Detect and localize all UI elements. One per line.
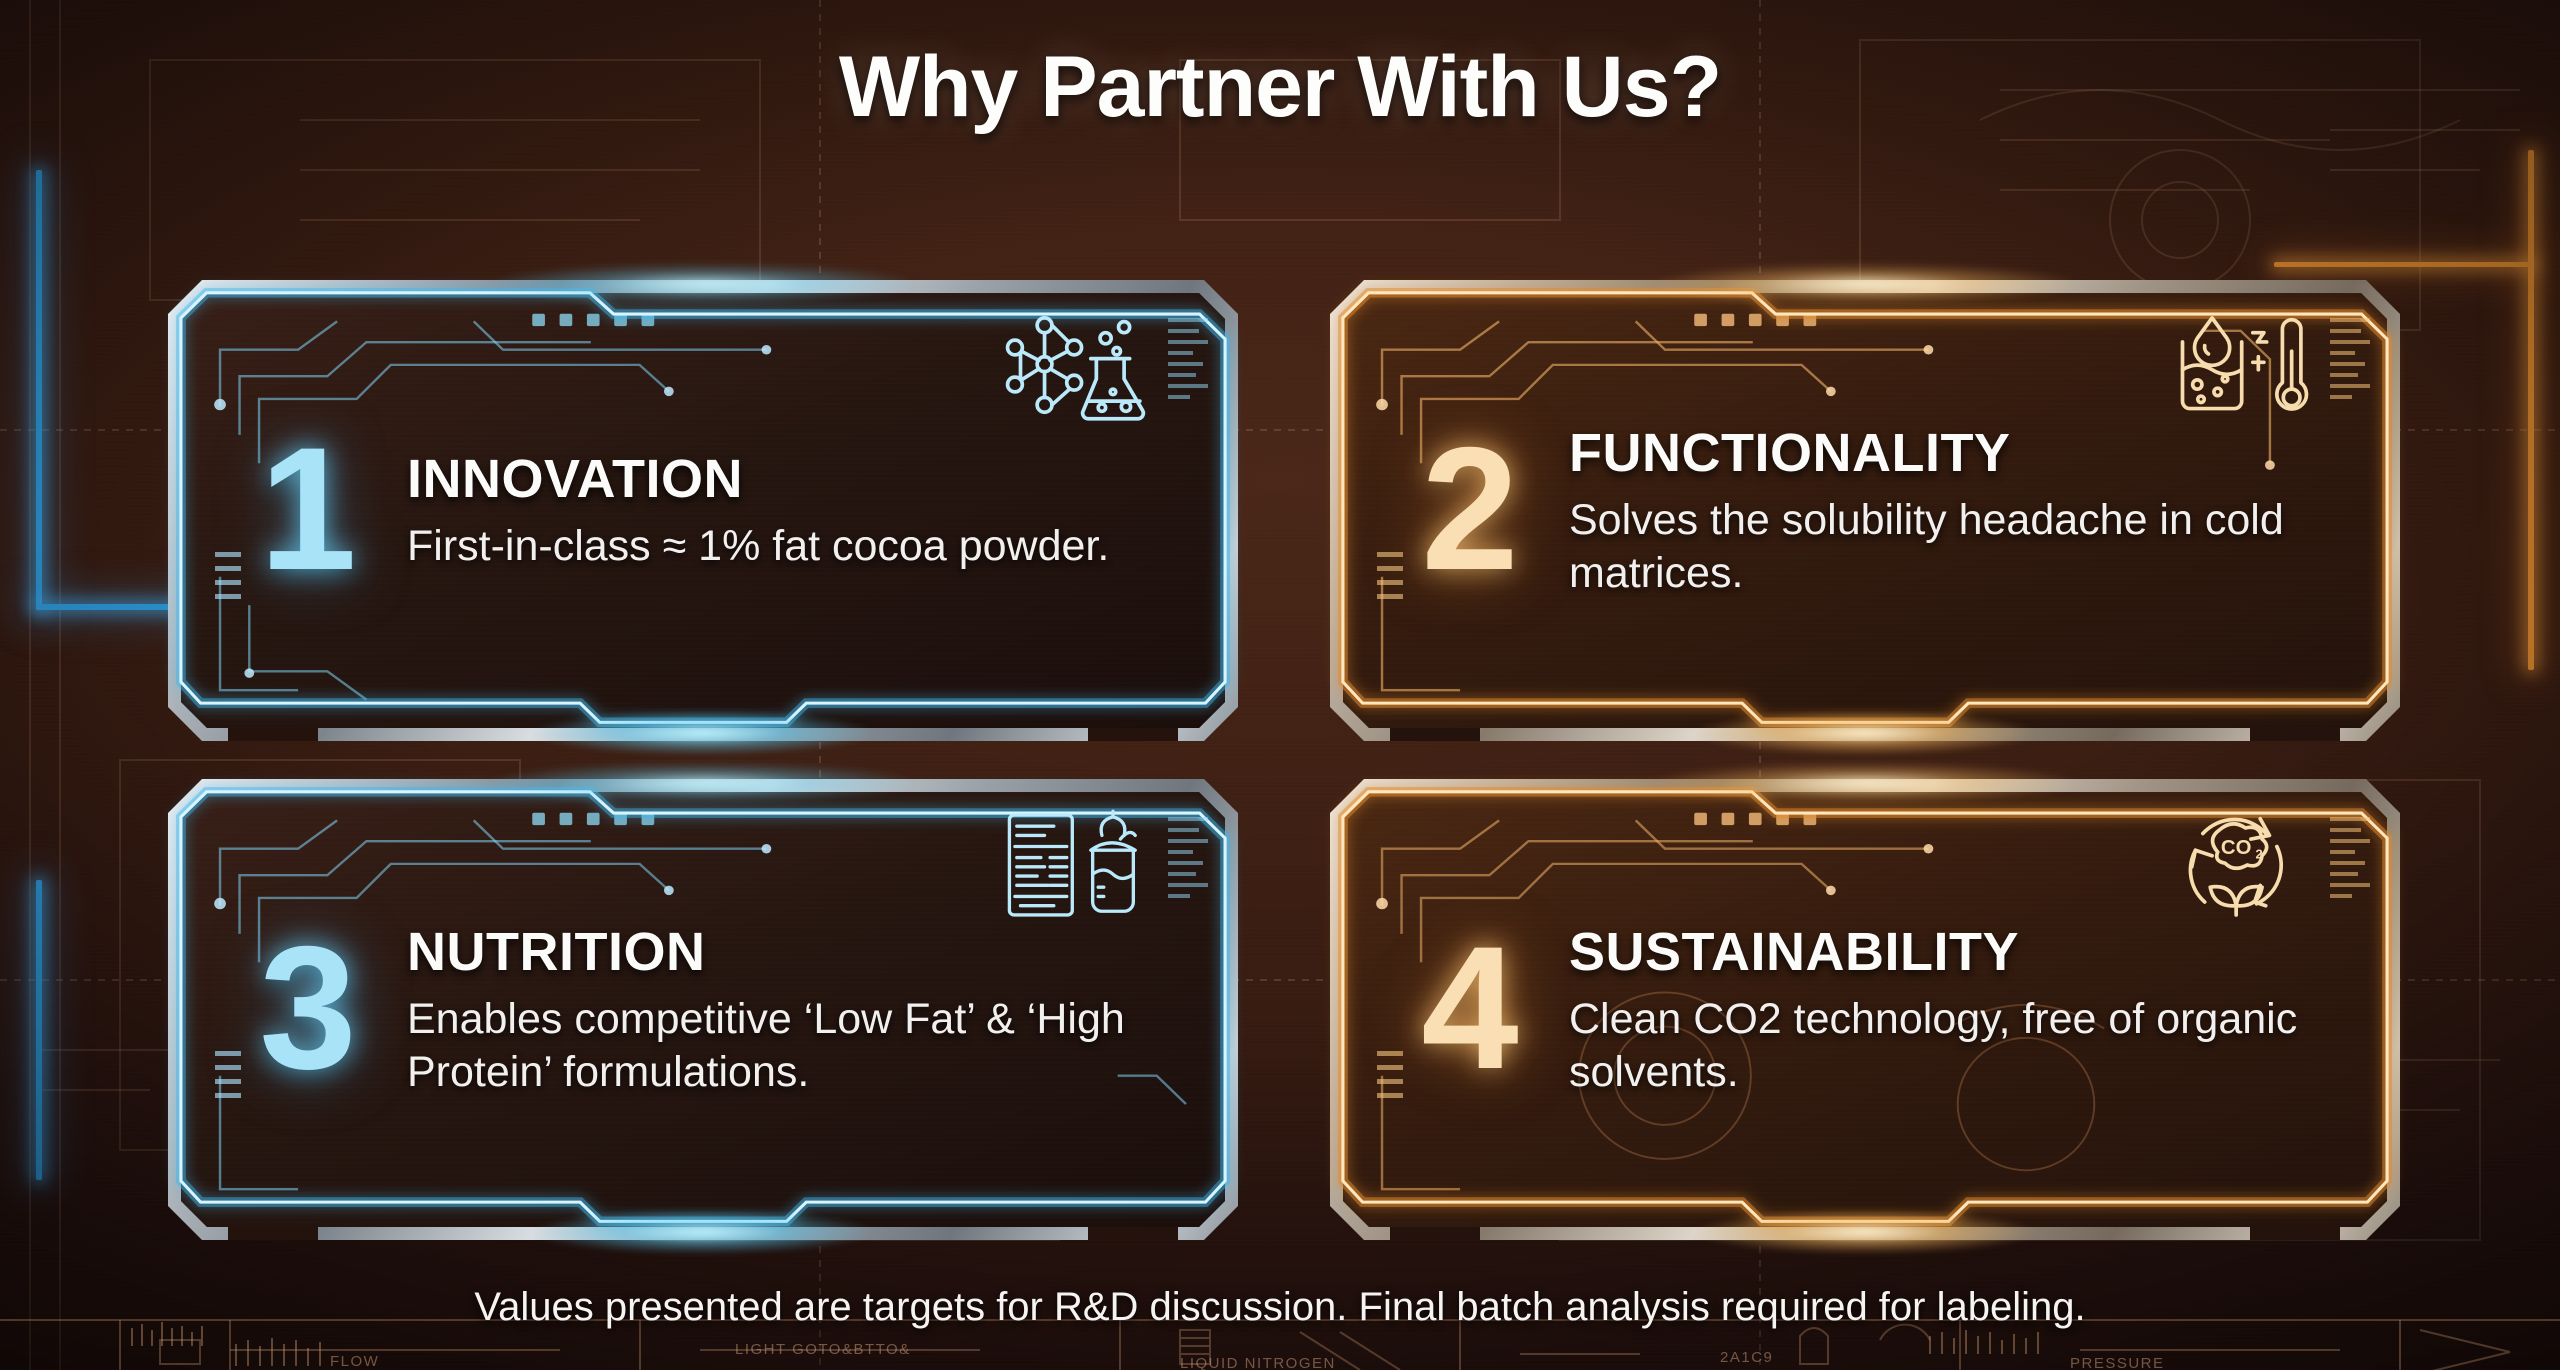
card-heading: FUNCTIONALITY <box>1569 422 2343 484</box>
card-heading: INNOVATION <box>407 448 1181 510</box>
card-number: 1 <box>233 427 383 593</box>
benefit-card-innovation[interactable]: 1 INNOVATION First-in-class ≈ 1% fat coc… <box>168 280 1238 741</box>
beaker-thermometer-icon <box>2164 310 2312 422</box>
page-title: Why Partner With Us? <box>0 38 2560 137</box>
benefit-card-nutrition[interactable]: 3 NUTRITION Enables competitive ‘Low Fat… <box>168 779 1238 1240</box>
footer-disclaimer: Values presented are targets for R&D dis… <box>0 1285 2560 1330</box>
card-text: FUNCTIONALITY Solves the solubility head… <box>1545 422 2343 599</box>
card-heading: NUTRITION <box>407 921 1181 983</box>
card-number: 4 <box>1395 926 1545 1092</box>
card-number: 2 <box>1395 427 1545 593</box>
card-description: Clean CO2 technology, free of organic so… <box>1569 993 2343 1098</box>
card-description: First-in-class ≈ 1% fat cocoa powder. <box>407 520 1181 572</box>
card-text: SUSTAINABILITY Clean CO2 technology, fre… <box>1545 921 2343 1098</box>
svg-text:CO: CO <box>2221 837 2252 859</box>
card-number: 3 <box>233 926 383 1092</box>
benefit-card-sustainability[interactable]: 4 SUSTAINABILITY Clean CO2 technology, f… <box>1330 779 2400 1240</box>
svg-text:LIGHT GOTO&BTTO&: LIGHT GOTO&BTTO& <box>735 1341 911 1358</box>
molecule-flask-icon <box>1002 310 1150 422</box>
card-text: NUTRITION Enables competitive ‘Low Fat’ … <box>383 921 1181 1098</box>
svg-text:2A1C9: 2A1C9 <box>1720 1349 1773 1366</box>
svg-text:PRESSURE: PRESSURE <box>2070 1355 2165 1370</box>
co2-recycle-leaf-icon: CO 2 <box>2164 809 2312 921</box>
benefit-card-grid: 1 INNOVATION First-in-class ≈ 1% fat coc… <box>168 280 2400 1240</box>
nutrition-label-shaker-icon <box>1002 809 1150 921</box>
svg-text:2: 2 <box>2256 847 2263 862</box>
card-heading: SUSTAINABILITY <box>1569 921 2343 983</box>
card-text: INNOVATION First-in-class ≈ 1% fat cocoa… <box>383 448 1181 572</box>
card-description: Solves the solubility headache in cold m… <box>1569 494 2343 599</box>
svg-text:LIQUID NITROGEN: LIQUID NITROGEN <box>1180 1355 1336 1370</box>
card-description: Enables competitive ‘Low Fat’ & ‘High Pr… <box>407 993 1181 1098</box>
benefit-card-functionality[interactable]: 2 FUNCTIONALITY Solves the solubility he… <box>1330 280 2400 741</box>
svg-text:FLOW: FLOW <box>330 1353 379 1370</box>
